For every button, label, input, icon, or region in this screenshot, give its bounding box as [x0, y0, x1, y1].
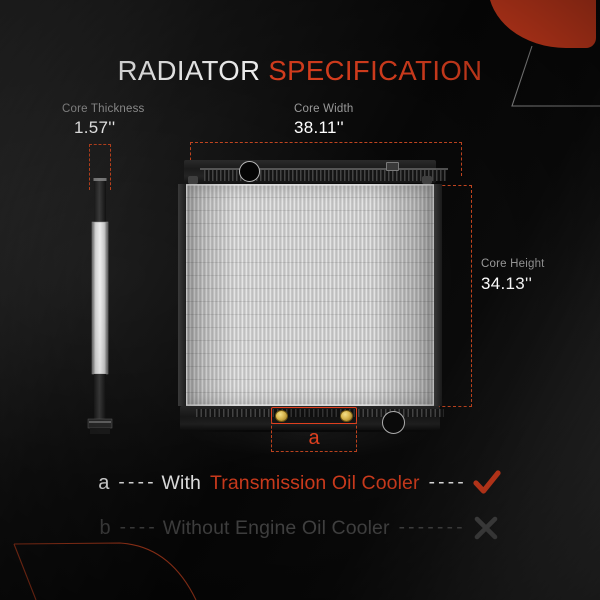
legend-a-highlight: Transmission Oil Cooler: [210, 472, 420, 495]
core-side-rail-right: [433, 184, 442, 406]
legend-a-prefix: With: [162, 472, 201, 495]
radiator-side-view: [83, 178, 117, 436]
radiator-top-tank: [184, 160, 436, 183]
top-tank-port: [386, 162, 399, 171]
legend-row-a: a - - - - With Transmission Oil Cooler -…: [0, 468, 600, 498]
legend-b-dash-right: - - - - - - -: [399, 517, 462, 539]
legend-a-dash-left: - - - -: [118, 472, 152, 494]
core-thickness-label: Core Thickness: [62, 103, 144, 115]
core-height-value: 34.13'': [481, 274, 532, 294]
check-mark-icon: [472, 468, 502, 498]
page-title-primary: RADIATOR: [118, 55, 261, 86]
core-thickness-value: 1.57'': [74, 118, 115, 138]
core-height-label: Core Height: [481, 258, 545, 270]
top-bracket-right: [422, 176, 432, 184]
legend-a-dash-right: - - - -: [429, 472, 463, 494]
page-title-accent: SPECIFICATION: [268, 55, 482, 86]
core-shading: [186, 184, 434, 406]
specification-page: RADIATOR SPECIFICATION Core Thickness 1.…: [0, 0, 600, 600]
footer-outline-shape-icon: [0, 530, 230, 600]
cross-mark-icon: [471, 513, 501, 543]
page-title: RADIATOR SPECIFICATION: [0, 55, 600, 87]
core-width-label: Core Width: [294, 103, 354, 115]
top-bracket-left: [188, 176, 198, 184]
radiator-core-fins: [186, 184, 434, 406]
legend-a-key: a: [98, 472, 109, 495]
radiator-front-view: [170, 160, 450, 448]
radiator-filler-neck-icon: [239, 161, 260, 182]
core-width-value: 38.11'': [294, 118, 344, 138]
callout-a-letter: a: [271, 427, 357, 450]
radiator-outlet-port-icon: [382, 411, 405, 434]
